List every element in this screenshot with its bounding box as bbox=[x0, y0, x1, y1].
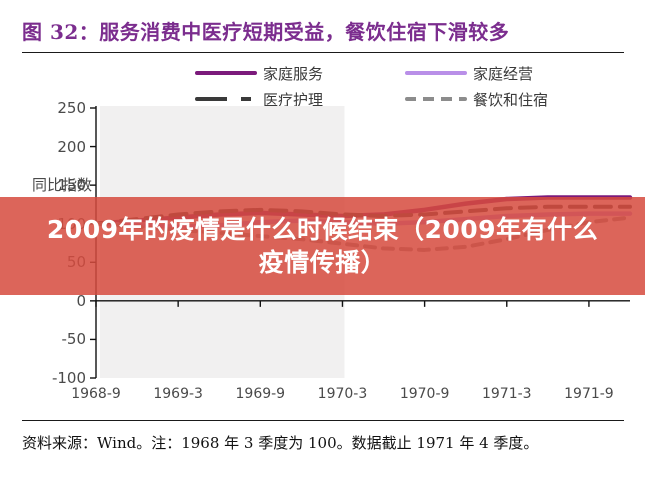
legend-item-1[interactable]: 家庭经营 bbox=[405, 64, 533, 82]
x-tick-label: 1969-3 bbox=[142, 386, 214, 402]
page-title: 图 32：服务消费中医疗短期受益，餐饮住宿下滑较多 bbox=[22, 16, 627, 45]
y-tick-label: -100 bbox=[34, 369, 86, 387]
y-tick-label: 250 bbox=[34, 99, 86, 117]
legend-label-0: 家庭服务 bbox=[263, 63, 323, 84]
x-tick-label: 1969-9 bbox=[224, 386, 296, 402]
legend-label-1: 家庭经营 bbox=[473, 63, 533, 84]
legend-swatch-solid-icon bbox=[405, 64, 467, 82]
overlay-caption-banner: 2009年的疫情是什么时候结束（2009年有什么疫情传播） bbox=[0, 197, 645, 295]
y-tick-label: 150 bbox=[34, 176, 86, 194]
x-tick-label: 1968-9 bbox=[60, 386, 132, 402]
legend-item-0[interactable]: 家庭服务 bbox=[195, 64, 323, 82]
x-tick-label: 1971-3 bbox=[471, 386, 543, 402]
overlay-caption-text: 2009年的疫情是什么时候结束（2009年有什么疫情传播） bbox=[43, 213, 603, 279]
x-tick-label: 1970-3 bbox=[306, 386, 378, 402]
title-divider bbox=[22, 52, 624, 53]
y-tick-label: 200 bbox=[34, 138, 86, 156]
x-tick-label: 1971-9 bbox=[553, 386, 625, 402]
footer-divider bbox=[22, 420, 624, 421]
legend-swatch-solid-icon bbox=[195, 64, 257, 82]
source-note: 资料来源：Wind。注：1968 年 3 季度为 100。数据截止 1971 年… bbox=[22, 430, 622, 456]
x-tick-label: 1970-9 bbox=[389, 386, 461, 402]
y-tick-label: -50 bbox=[34, 330, 86, 348]
